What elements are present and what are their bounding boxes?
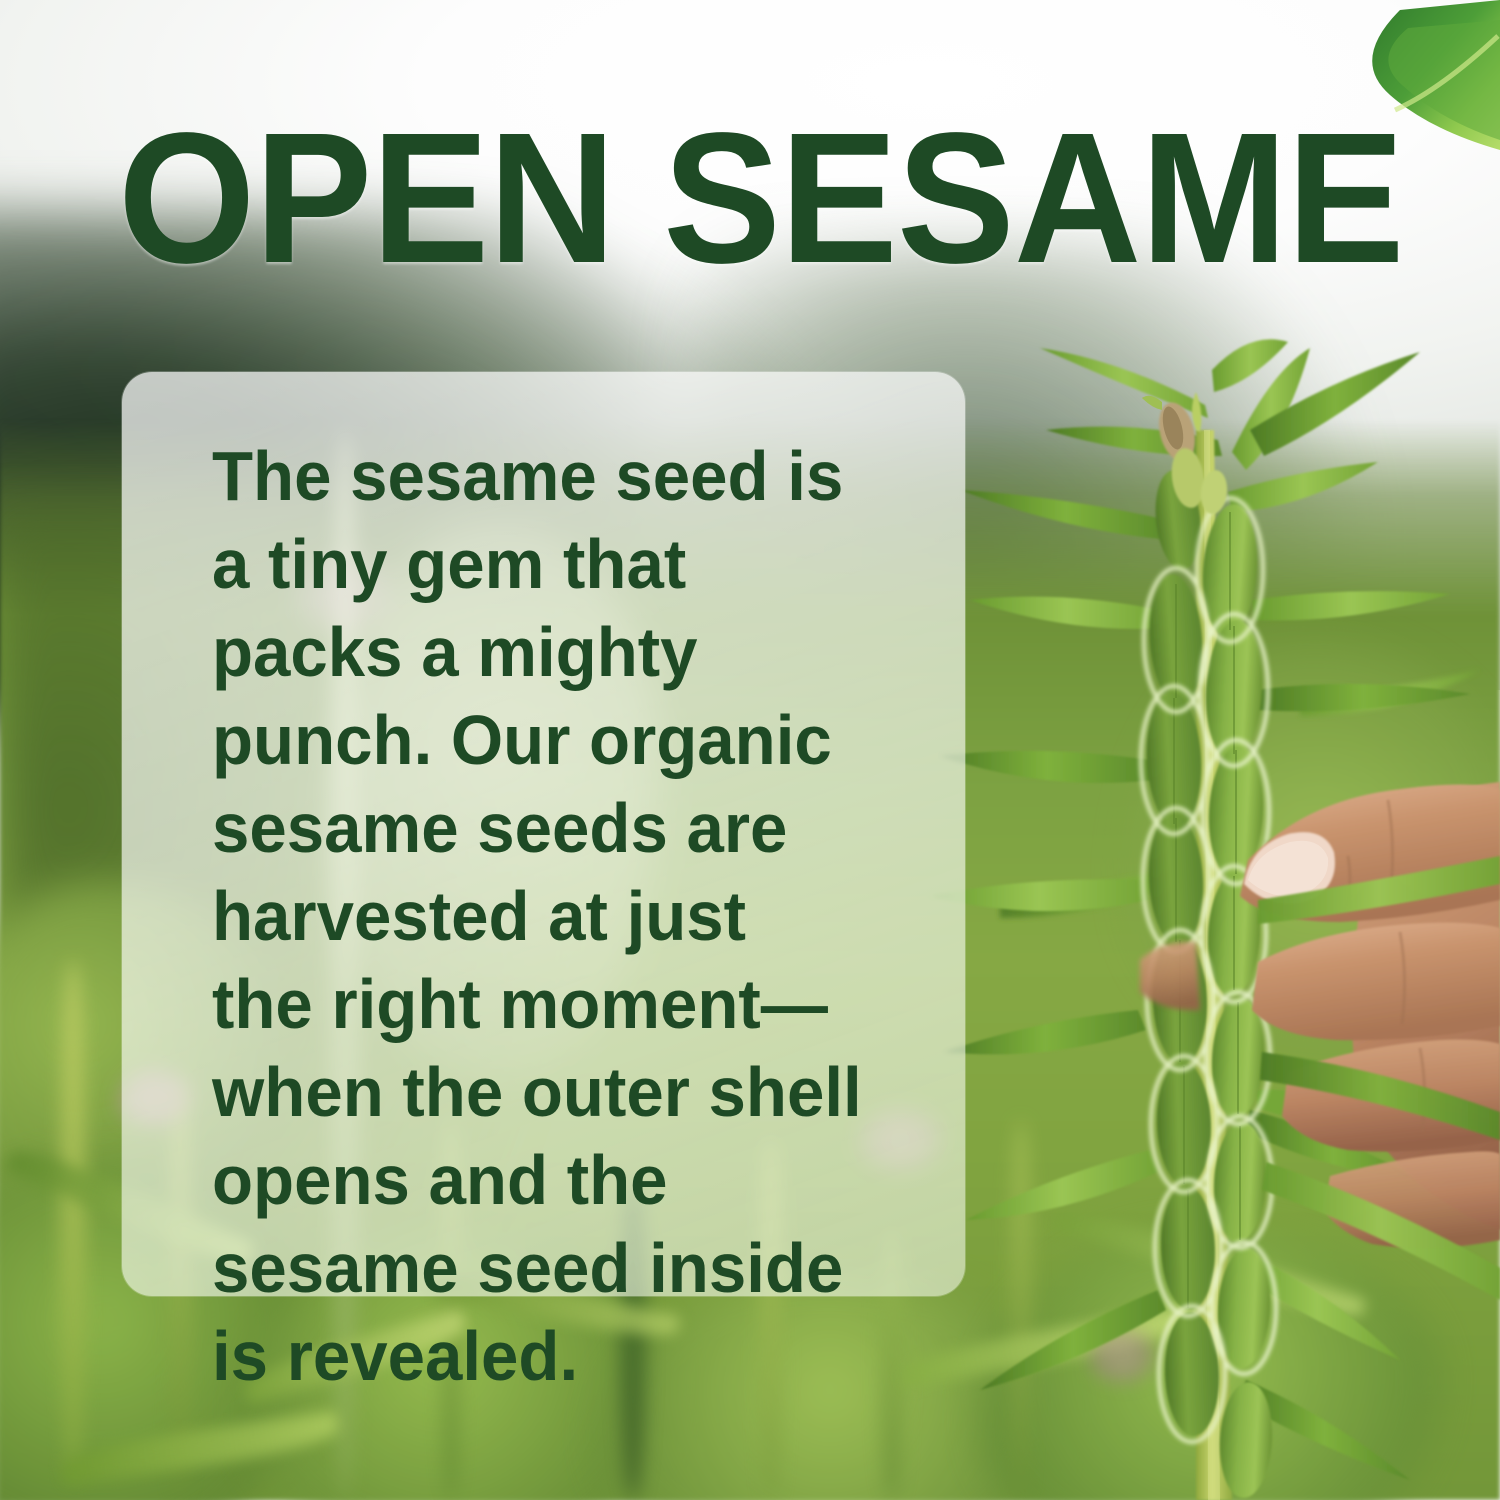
- page-title: OPEN SESAME: [118, 106, 1404, 292]
- body-paragraph: The sesame seed is a tiny gem that packs…: [212, 432, 865, 1400]
- marketing-image: OPEN SESAME The sesame seed is a tiny ge…: [0, 0, 1500, 1500]
